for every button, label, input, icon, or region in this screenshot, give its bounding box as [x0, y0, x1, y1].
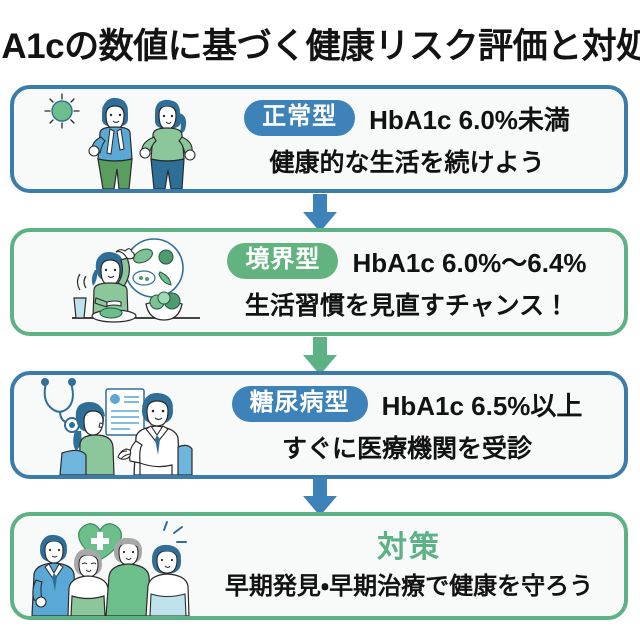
hba1c-range-diabetes: HbA1c 6.5%以上 [382, 386, 583, 423]
countermeasure-card-body: 対策 早期発見・早期治療で健康を守ろう [204, 516, 624, 616]
page-title-text: A1cの数値に基づく健康リスク評価と対処 [1, 18, 640, 69]
risk-card-borderline-top-row: 境界型 HbA1c 6.0%〜6.4% [227, 243, 586, 280]
status-badge-borderline: 境界型 [227, 243, 338, 279]
doctor-consultation-stethoscope-illustration [14, 375, 204, 475]
page-title: A1cの数値に基づく健康リスク評価と対処 [0, 12, 640, 74]
countermeasure-heading: 対策 [377, 531, 441, 564]
risk-card-borderline-body: 境界型 HbA1c 6.0%〜6.4% 生活習慣を見直すチャンス！ [204, 232, 624, 332]
risk-card-normal[interactable]: 正常型 HbA1c 6.0%未満 健康的な生活を続けよう [10, 85, 628, 193]
countermeasure-advice: 早期発見・早期治療で健康を守ろう [225, 566, 593, 601]
status-badge-diabetes: 糖尿病型 [232, 386, 368, 422]
advice-normal: 健康的な生活を続けよう [269, 143, 544, 179]
walking-couple-sun-illustration [14, 89, 204, 189]
countermeasure-card[interactable]: 対策 早期発見・早期治療で健康を守ろう [10, 512, 628, 620]
risk-card-borderline[interactable]: 境界型 HbA1c 6.0%〜6.4% 生活習慣を見直すチャンス！ [10, 228, 628, 336]
advice-diabetes: すぐに医療機関を受診 [282, 429, 532, 465]
advice-borderline: 生活習慣を見直すチャンス！ [245, 286, 569, 322]
risk-card-diabetes-top-row: 糖尿病型 HbA1c 6.5%以上 [232, 386, 583, 423]
status-badge-normal: 正常型 [244, 100, 355, 136]
risk-card-normal-body: 正常型 HbA1c 6.0%未満 健康的な生活を続けよう [204, 89, 624, 189]
hba1c-range-normal: HbA1c 6.0%未満 [369, 100, 570, 137]
risk-card-diabetes-body: 糖尿病型 HbA1c 6.5%以上 すぐに医療機関を受診 [204, 375, 624, 475]
infographic-page: A1cの数値に基づく健康リスク評価と対処 [0, 0, 640, 640]
risk-card-diabetes[interactable]: 糖尿病型 HbA1c 6.5%以上 すぐに医療機関を受診 [10, 371, 628, 479]
family-heart-cross-illustration [14, 516, 204, 616]
stretching-woman-vegetables-illustration [14, 232, 204, 332]
risk-card-normal-top-row: 正常型 HbA1c 6.0%未満 [244, 100, 570, 137]
hba1c-range-borderline: HbA1c 6.0%〜6.4% [352, 243, 586, 280]
